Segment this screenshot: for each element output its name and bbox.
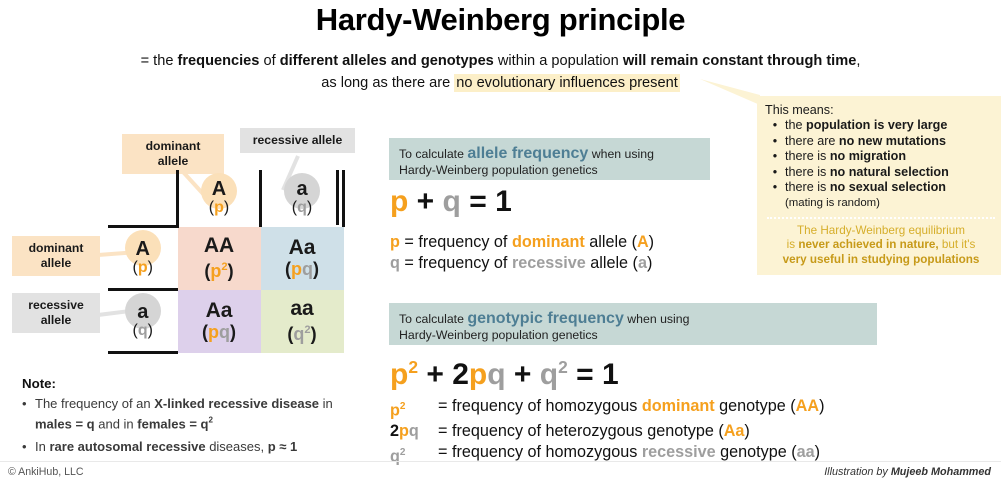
column-header-a: a (q) <box>261 170 344 227</box>
subtitle: = the frequencies of different alleles a… <box>18 50 983 94</box>
bullet-icon: • <box>765 134 785 150</box>
bullet-icon: • <box>22 396 35 432</box>
bullet-icon: • <box>765 118 785 134</box>
subtitle-seg: of <box>259 53 279 69</box>
callout-recessive-allele-left: recessiveallele <box>12 293 100 333</box>
subtitle-seg-bold: frequencies <box>178 53 260 69</box>
this-means-box: This means: • the population is very lar… <box>757 96 1001 275</box>
legend-row: p2 = frequency of homozygous dominant ge… <box>390 396 824 421</box>
list-item-text: The frequency of an X-linked recessive d… <box>35 396 352 432</box>
legend-row: q = frequency of recessive allele (a) <box>390 253 654 274</box>
bullet-icon: • <box>765 165 785 181</box>
subtitle-seg-bold: different alleles and genotypes <box>280 53 494 69</box>
list-item: • The frequency of an X-linked recessive… <box>22 396 352 432</box>
punnett-cell-aa: aa (q2) <box>261 290 344 353</box>
page-title: Hardy-Weinberg principle <box>0 2 1001 38</box>
allele-frequency-header: To calculate allele frequency when using… <box>389 138 710 180</box>
subtitle-seg: , <box>856 53 860 69</box>
footer-divider <box>0 461 1001 462</box>
copyright-text: © AnkiHub, LLC <box>8 466 84 478</box>
row-header-A-freq: (p) <box>108 259 178 277</box>
note-section: Note: • The frequency of an X-linked rec… <box>22 376 352 463</box>
list-item-text: there are no new mutations <box>785 134 946 150</box>
equilibrium-line-1: The Hardy-Weinberg equilibrium <box>797 224 965 237</box>
list-item-text: there is no sexual selection <box>785 180 946 196</box>
table-row: a (q) Aa (pq) aa (q2) <box>108 290 344 353</box>
column-header-A: A (p) <box>178 170 261 227</box>
genotypic-frequency-header: To calculate genotypic frequency when us… <box>389 303 877 345</box>
list-item: • there is no natural selection <box>765 165 997 181</box>
punnett-table: A (p) a (q) A (p) AA (p2) Aa (pq) <box>108 170 345 354</box>
legend-row: q2 = frequency of homozygous recessive g… <box>390 442 824 467</box>
subtitle-highlight: no evolutionary influences present <box>454 74 679 92</box>
list-item-text: there is no natural selection <box>785 165 949 181</box>
corner-cell <box>108 170 178 227</box>
allele-frequency-equation: p + q = 1 <box>390 185 512 219</box>
list-item-text: there is no migration <box>785 149 906 165</box>
mating-note: (mating is random) <box>785 196 997 210</box>
genotypic-frequency-legend: p2 = frequency of homozygous dominant ge… <box>390 396 824 468</box>
punnett-cell-Aa-2: Aa (pq) <box>178 290 261 353</box>
callout-connector-icon <box>700 79 760 105</box>
callout-dominant-allele-top: dominant allele <box>122 134 224 174</box>
legend-key: q2 <box>390 442 438 467</box>
bullet-icon: • <box>22 439 35 456</box>
punnett-cell-AA: AA (p2) <box>178 227 261 290</box>
punnett-square: A (p) a (q) A (p) AA (p2) Aa (pq) <box>108 170 345 354</box>
subtitle-seg: within a population <box>494 53 623 69</box>
subtitle-seg: = the <box>141 53 178 69</box>
row-header-a: a (q) <box>108 290 178 353</box>
subtitle-seg: as long as there are <box>321 75 454 91</box>
illustration-credit: Illustration by Mujeeb Mohammed <box>824 466 991 478</box>
bullet-icon: • <box>765 180 785 196</box>
allele-frequency-legend: p = frequency of dominant allele (A) q =… <box>390 232 654 274</box>
legend-text: = frequency of homozygous dominant genot… <box>438 396 824 417</box>
row-header-A: A (p) <box>108 227 178 290</box>
list-item-text: the population is very large <box>785 118 947 134</box>
legend-row: p = frequency of dominant allele (A) <box>390 232 654 253</box>
legend-key: p2 <box>390 396 438 421</box>
punnett-cell-Aa-2-freq: (pq) <box>178 322 261 343</box>
table-row-header: A (p) a (q) <box>108 170 344 227</box>
table-row: A (p) AA (p2) Aa (pq) <box>108 227 344 290</box>
callout-dominant-allele-left: dominantallele <box>12 236 100 276</box>
column-header-A-freq: (p) <box>179 199 259 217</box>
punnett-cell-aa-freq: (q2) <box>261 320 344 345</box>
equilibrium-line-3: very useful in studying populations <box>783 253 980 266</box>
genotypic-frequency-equation: p2 + 2pq + q2 = 1 <box>390 350 619 392</box>
list-item: • In rare autosomal recessive diseases, … <box>22 439 352 456</box>
punnett-cell-AA-freq: (p2) <box>178 257 261 282</box>
bullet-icon: • <box>765 149 785 165</box>
column-header-a-freq: (q) <box>262 199 342 217</box>
punnett-cell-Aa-1: Aa (pq) <box>261 227 344 290</box>
list-item: • there are no new mutations <box>765 134 997 150</box>
row-header-a-freq: (q) <box>108 322 178 340</box>
legend-row: 2pq = frequency of heterozygous genotype… <box>390 421 824 442</box>
subtitle-line-1: = the frequencies of different alleles a… <box>141 53 861 69</box>
equilibrium-note: The Hardy-Weinberg equilibrium is never … <box>765 224 997 269</box>
legend-key: 2pq <box>390 421 438 442</box>
list-item: • there is no migration <box>765 149 997 165</box>
punnett-cell-Aa-1-freq: (pq) <box>261 259 344 280</box>
list-item: • the population is very large <box>765 118 997 134</box>
callout-recessive-allele-top: recessive allele <box>240 128 355 153</box>
subtitle-line-2: as long as there are no evolutionary inf… <box>321 74 680 92</box>
note-title: Note: <box>22 376 352 391</box>
subtitle-seg-bold: will remain constant through time <box>623 53 857 69</box>
legend-text: = frequency of heterozygous genotype (Aa… <box>438 421 750 442</box>
list-item: • there is no sexual selection <box>765 180 997 196</box>
this-means-heading: This means: <box>765 103 997 117</box>
divider <box>767 217 995 219</box>
list-item-text: In rare autosomal recessive diseases, p … <box>35 439 297 456</box>
